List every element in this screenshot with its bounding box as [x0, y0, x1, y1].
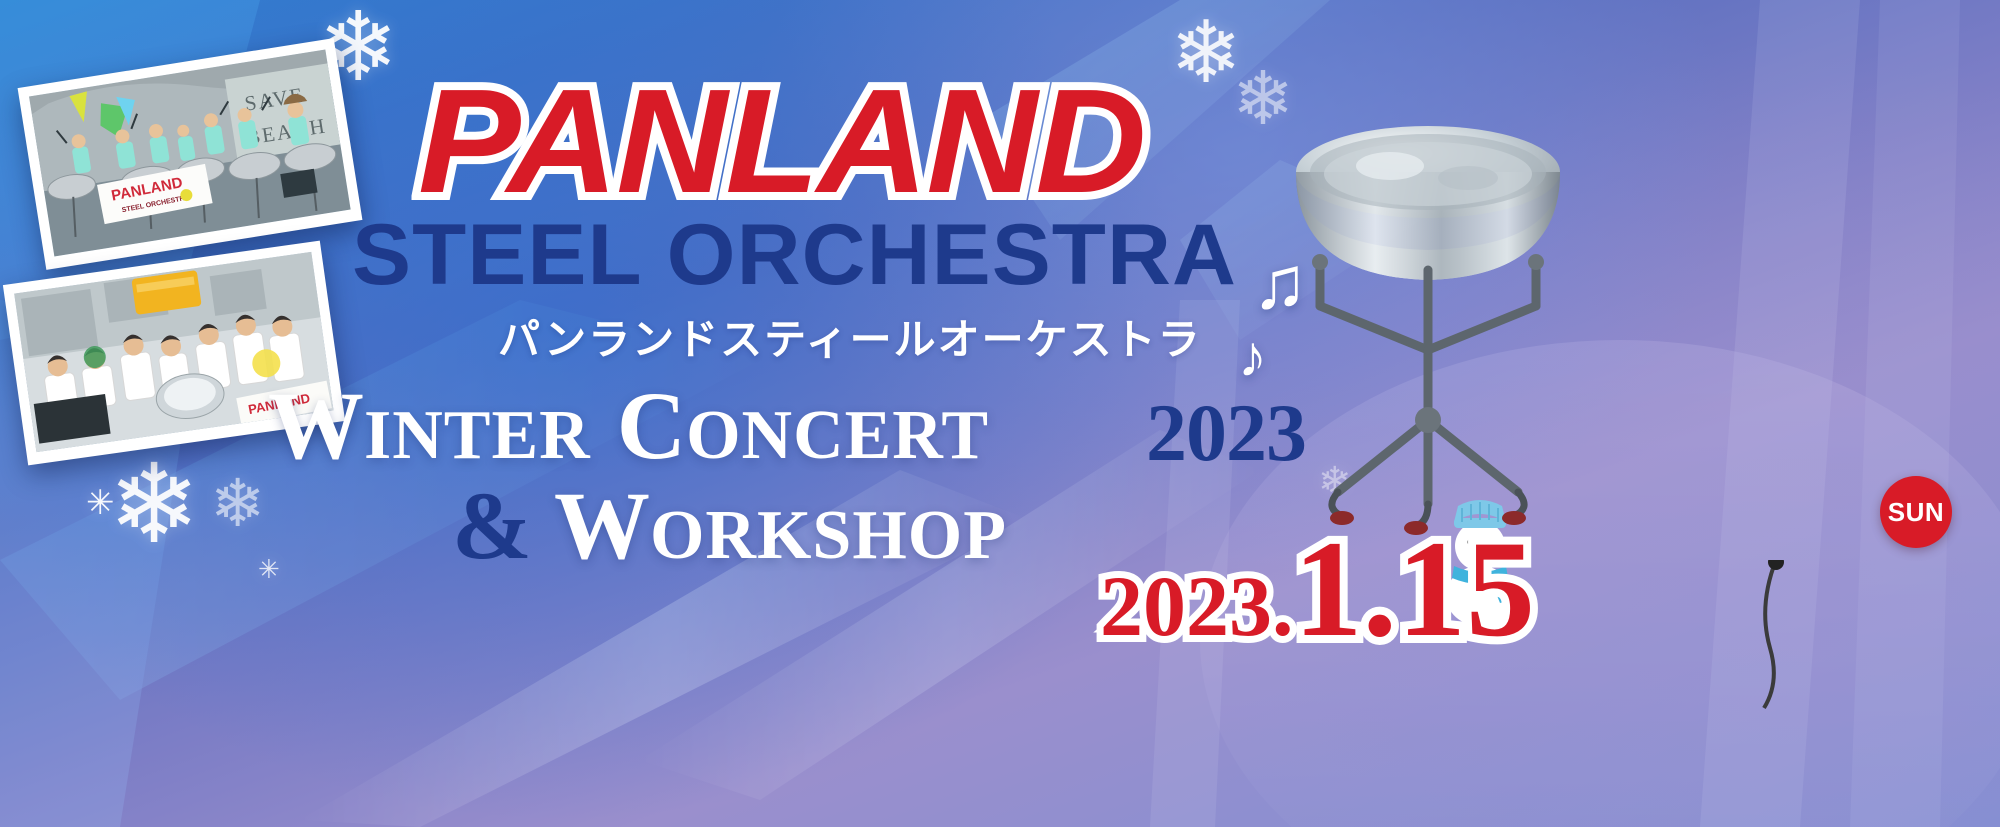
snowflake-icon: ❄ — [210, 470, 265, 536]
date-year: 2023. — [1100, 558, 1294, 654]
status-badge-weekday: SUN — [1880, 476, 1952, 548]
winter-cap: W — [268, 372, 364, 479]
photo-card-concert: SAVE BEACH — [18, 38, 363, 270]
brand-subtitle: STEEL ORCHESTRA — [352, 212, 1237, 298]
promo-banner: ❄ ❄ ❄ ❄ ❄ ✳ ✳ ❄ SAVE BEACH — [0, 0, 2000, 827]
page-title: PANLAND — [418, 68, 1144, 216]
concert-cap: C — [617, 372, 686, 479]
event-title-line-1: WINTERCONCERT — [268, 378, 989, 474]
workshop-rest: ORKSHOP — [650, 497, 1007, 574]
workshop-cap: W — [554, 472, 650, 579]
weekday-label: SUN — [1888, 497, 1944, 528]
event-title-line-2: &WORKSHOP — [452, 478, 1007, 574]
brand-japanese-subtitle: パンランドスティールオーケストラ — [498, 306, 1202, 367]
photo-image-concert: SAVE BEACH — [29, 50, 351, 257]
snowflake-icon: ❄ — [108, 450, 200, 560]
ampersand: & — [452, 472, 532, 579]
mallet-icon — [1730, 560, 1820, 730]
winter-rest: INTER — [364, 397, 591, 474]
sparkle-icon: ✳ — [86, 486, 115, 520]
steel-pan-drum-icon — [1278, 120, 1578, 540]
note-eighth-icon: ♪ — [1238, 328, 1267, 386]
concert-rest: ONCERT — [686, 397, 989, 474]
sparkle-icon: ✳ — [258, 556, 280, 582]
